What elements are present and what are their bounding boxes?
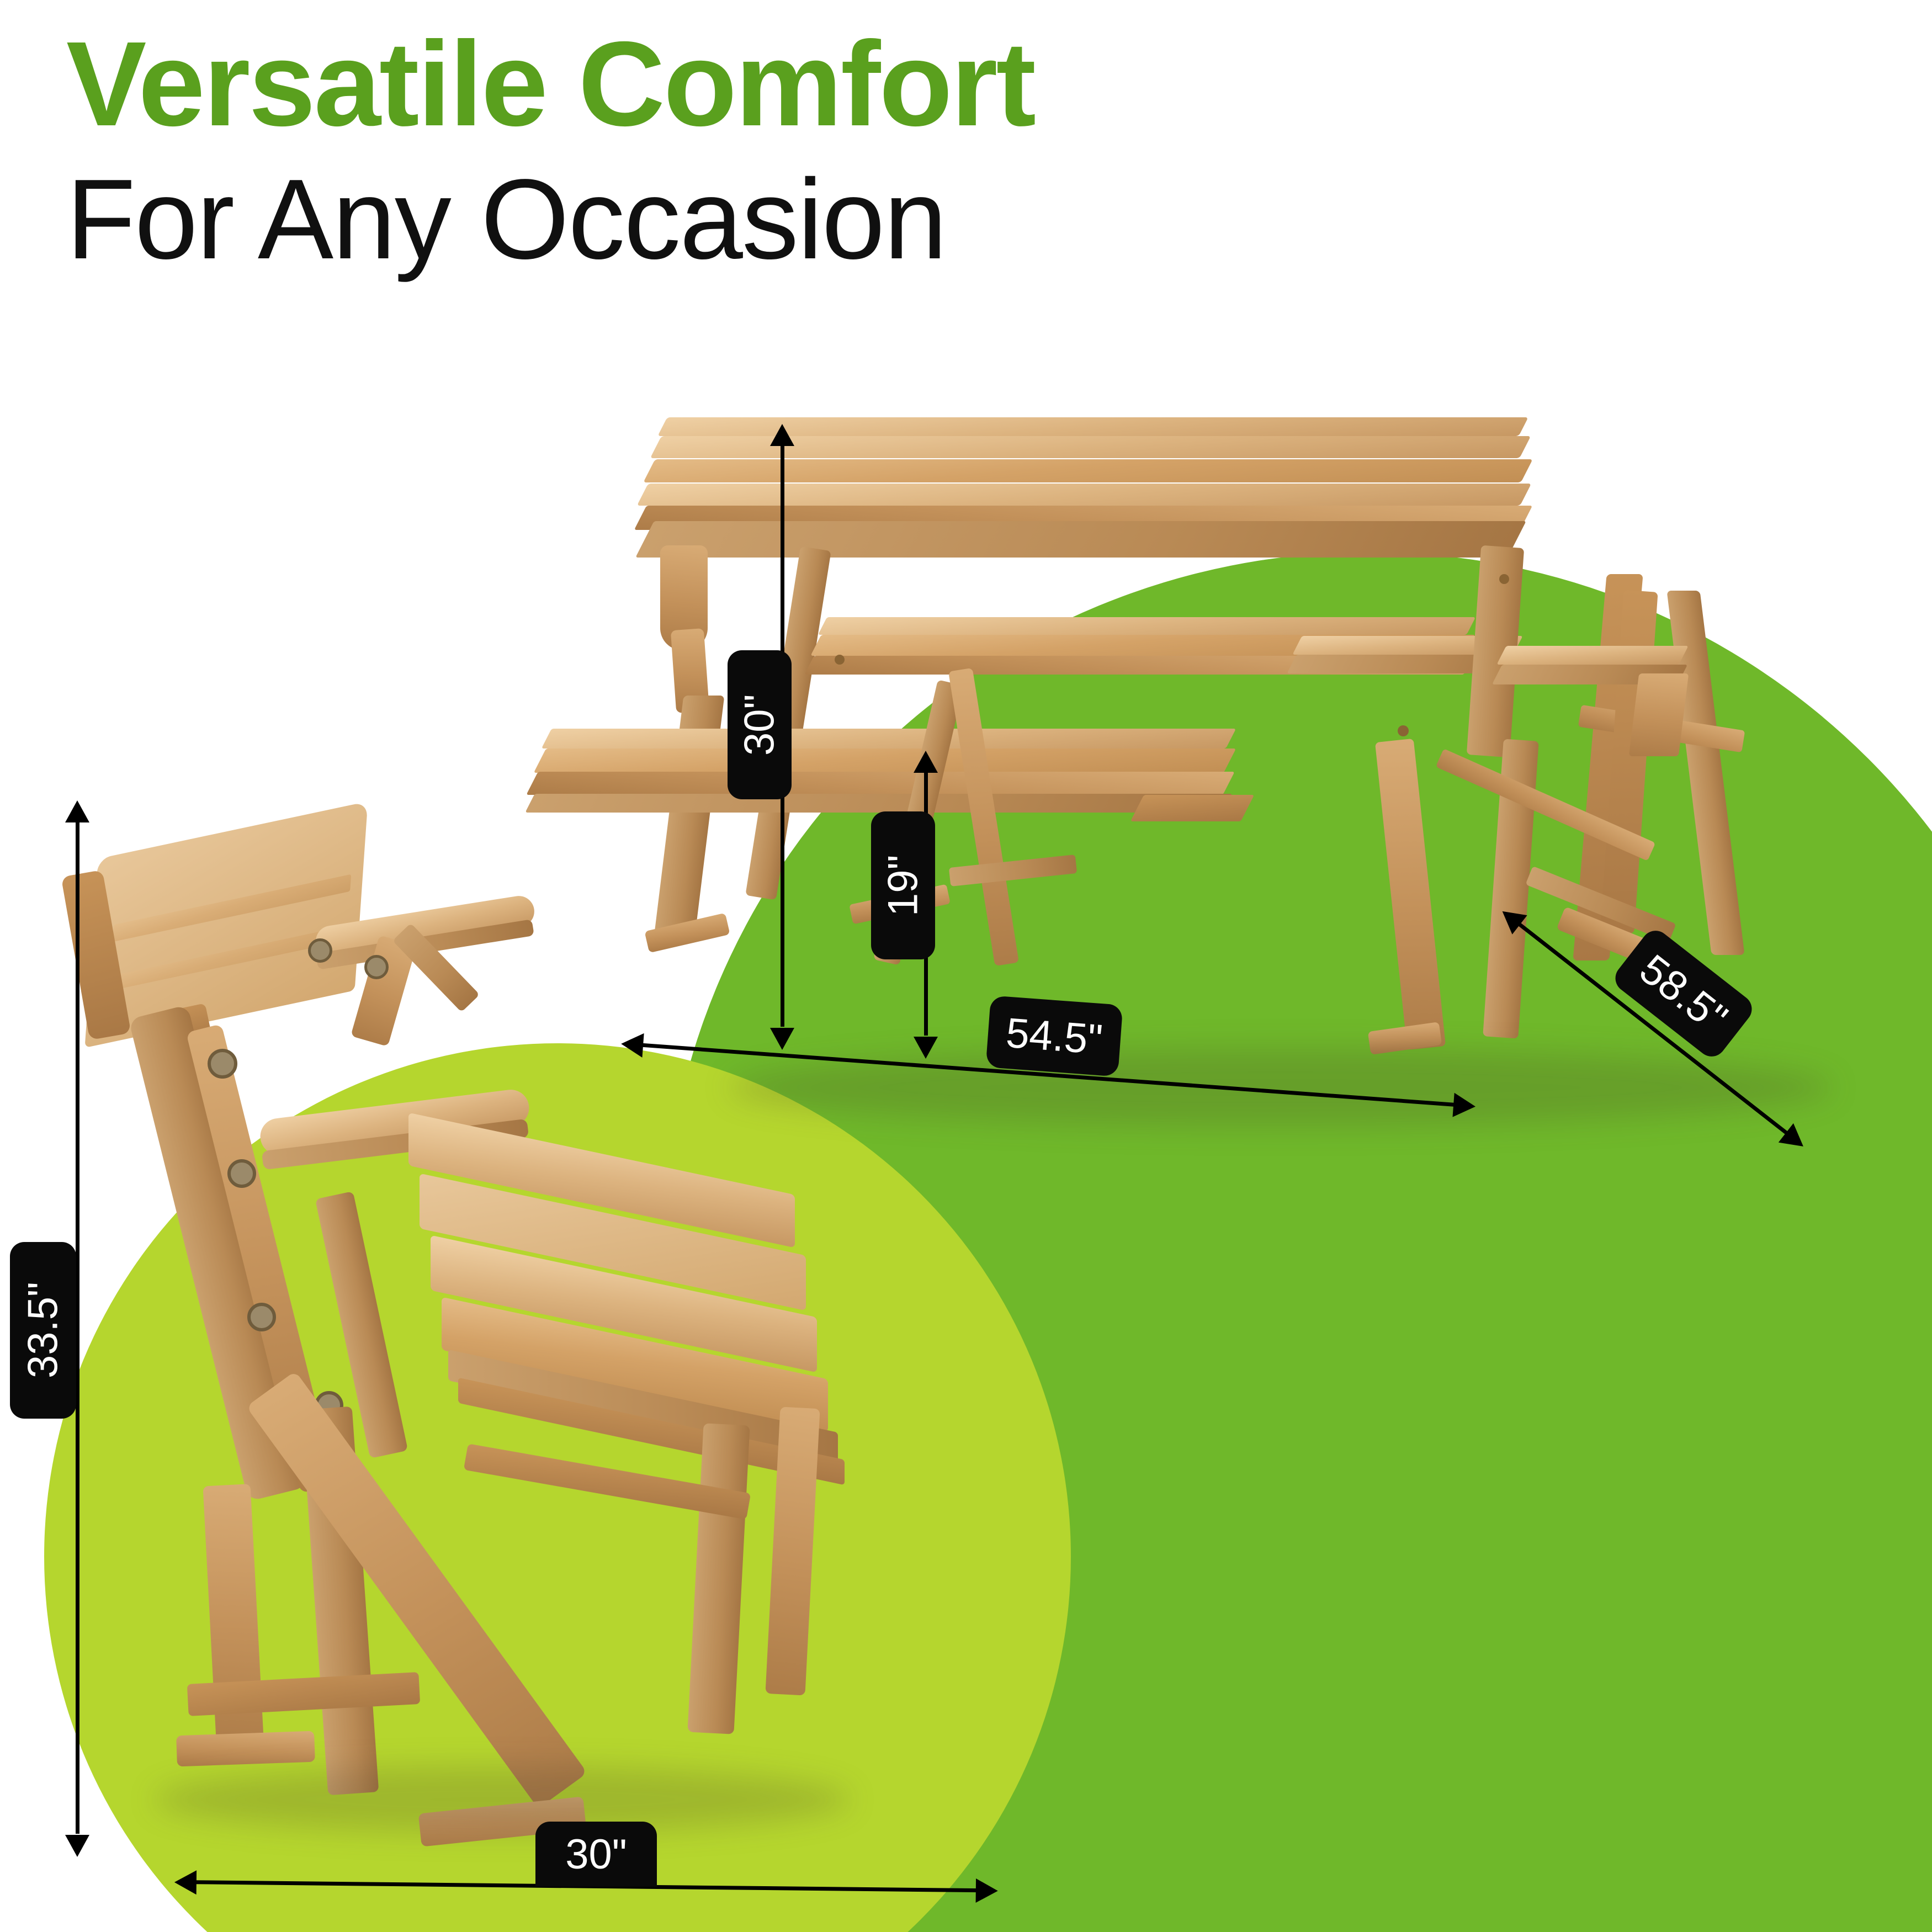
headline-primary: Versatile Comfort (66, 23, 1391, 146)
dimension-label-bench-depth: 30" (535, 1822, 657, 1887)
headline-block: Versatile Comfort For Any Occasion (66, 23, 1391, 281)
headline-secondary: For Any Occasion (66, 158, 1391, 280)
dimension-label-table-width: 54.5" (986, 995, 1123, 1076)
dimension-label-seat-height: 19" (871, 811, 935, 959)
dimension-label-table-height: 30" (728, 650, 792, 799)
dimension-label-bench-height: 33.5" (10, 1242, 76, 1419)
infographic-canvas: Versatile Comfort For Any Occasion (0, 0, 1932, 1932)
product-image-convertible-garden-bench (77, 773, 972, 1855)
